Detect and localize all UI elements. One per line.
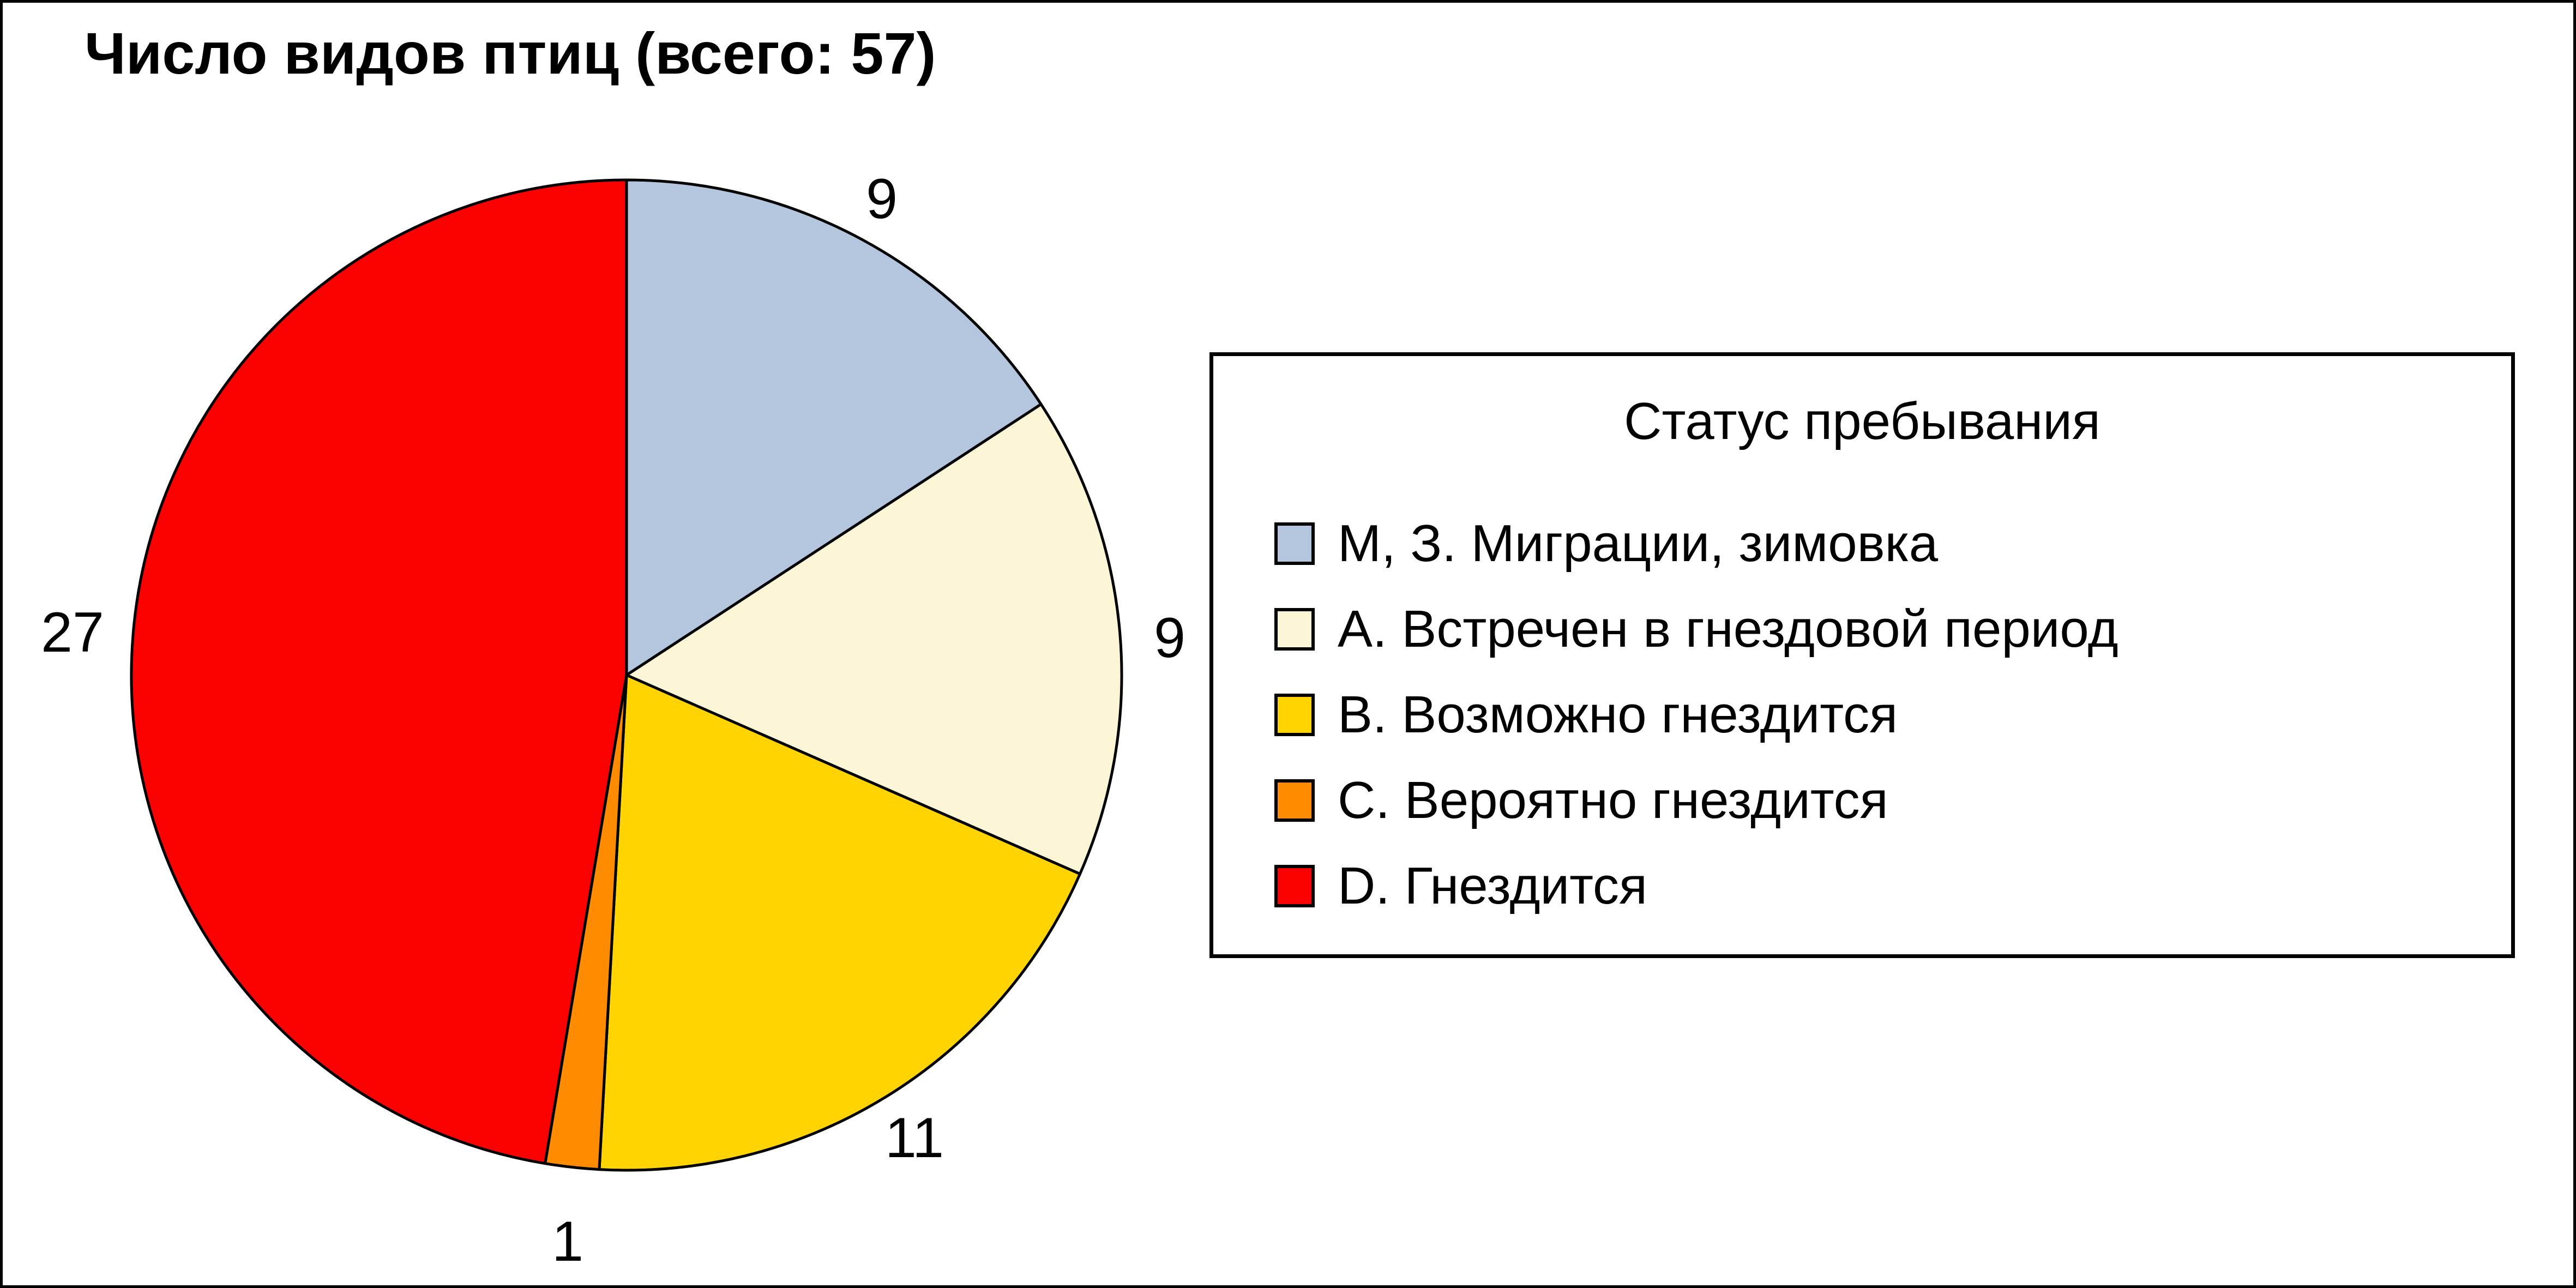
pie-value-label: 11 xyxy=(885,1110,944,1166)
legend-item[interactable]: A. Встречен в гнездовой период xyxy=(1274,586,2507,672)
legend-item-label: D. Гнездится xyxy=(1338,860,1647,912)
legend-item-label: M, З. Миграции, зимовка xyxy=(1338,517,1938,570)
legend-color-swatch xyxy=(1274,779,1315,822)
legend-color-swatch xyxy=(1274,522,1315,565)
legend-item[interactable]: C. Вероятно гнездится xyxy=(1274,757,2507,843)
legend-title: Статус пребывания xyxy=(1213,395,2511,448)
legend-color-swatch xyxy=(1274,865,1315,907)
legend-color-swatch xyxy=(1274,694,1315,736)
pie-chart-area: 9911127 xyxy=(3,3,1209,1288)
legend-item[interactable]: D. Гнездится xyxy=(1274,843,2507,929)
pie-value-label: 9 xyxy=(1154,610,1185,666)
pie-value-label: 1 xyxy=(552,1213,583,1270)
legend-item-label: A. Встречен в гнездовой период xyxy=(1338,603,2118,655)
pie-value-label: 9 xyxy=(866,171,898,227)
pie-slice[interactable] xyxy=(131,180,627,1164)
legend-item-label: B. Возможно гнездится xyxy=(1338,689,1898,741)
legend-item-label: C. Вероятно гнездится xyxy=(1338,774,1888,827)
pie-slices-group xyxy=(131,180,1122,1170)
pie-chart-svg xyxy=(3,3,1209,1288)
pie-value-label: 27 xyxy=(41,604,104,661)
legend-item[interactable]: M, З. Миграции, зимовка xyxy=(1274,501,2507,586)
chart-canvas: Число видов птиц (всего: 57) 9911127 Ста… xyxy=(0,0,2576,1288)
legend-item[interactable]: B. Возможно гнездится xyxy=(1274,672,2507,757)
legend-items-list: M, З. Миграции, зимовкаA. Встречен в гне… xyxy=(1274,501,2507,929)
legend-panel: Статус пребывания M, З. Миграции, зимовк… xyxy=(1209,352,2515,958)
legend-color-swatch xyxy=(1274,608,1315,651)
